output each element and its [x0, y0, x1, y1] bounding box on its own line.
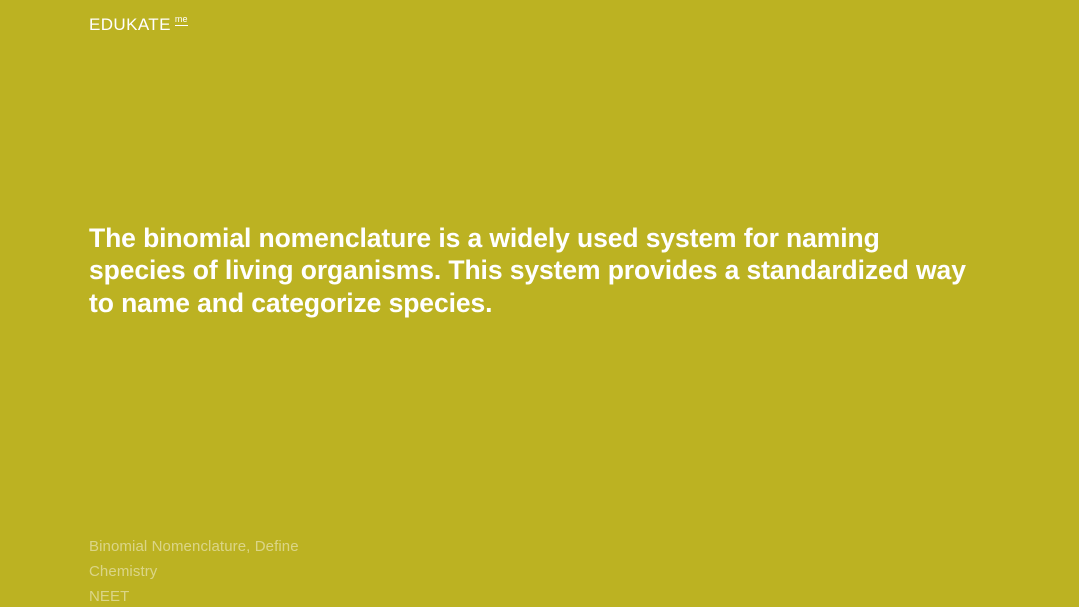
- footer-topic: Binomial Nomenclature, Define: [89, 534, 299, 559]
- page-title: The binomial nomenclature is a widely us…: [89, 222, 979, 319]
- slide-canvas: EDUKATE me The binomial nomenclature is …: [0, 0, 1079, 607]
- brand-suffix: me: [175, 15, 188, 26]
- footer-exam: NEET: [89, 584, 299, 607]
- brand-name: EDUKATE: [89, 16, 171, 33]
- brand-logo[interactable]: EDUKATE me: [89, 16, 188, 33]
- footer-meta: Binomial Nomenclature, Define Chemistry …: [89, 534, 299, 607]
- footer-subject: Chemistry: [89, 559, 299, 584]
